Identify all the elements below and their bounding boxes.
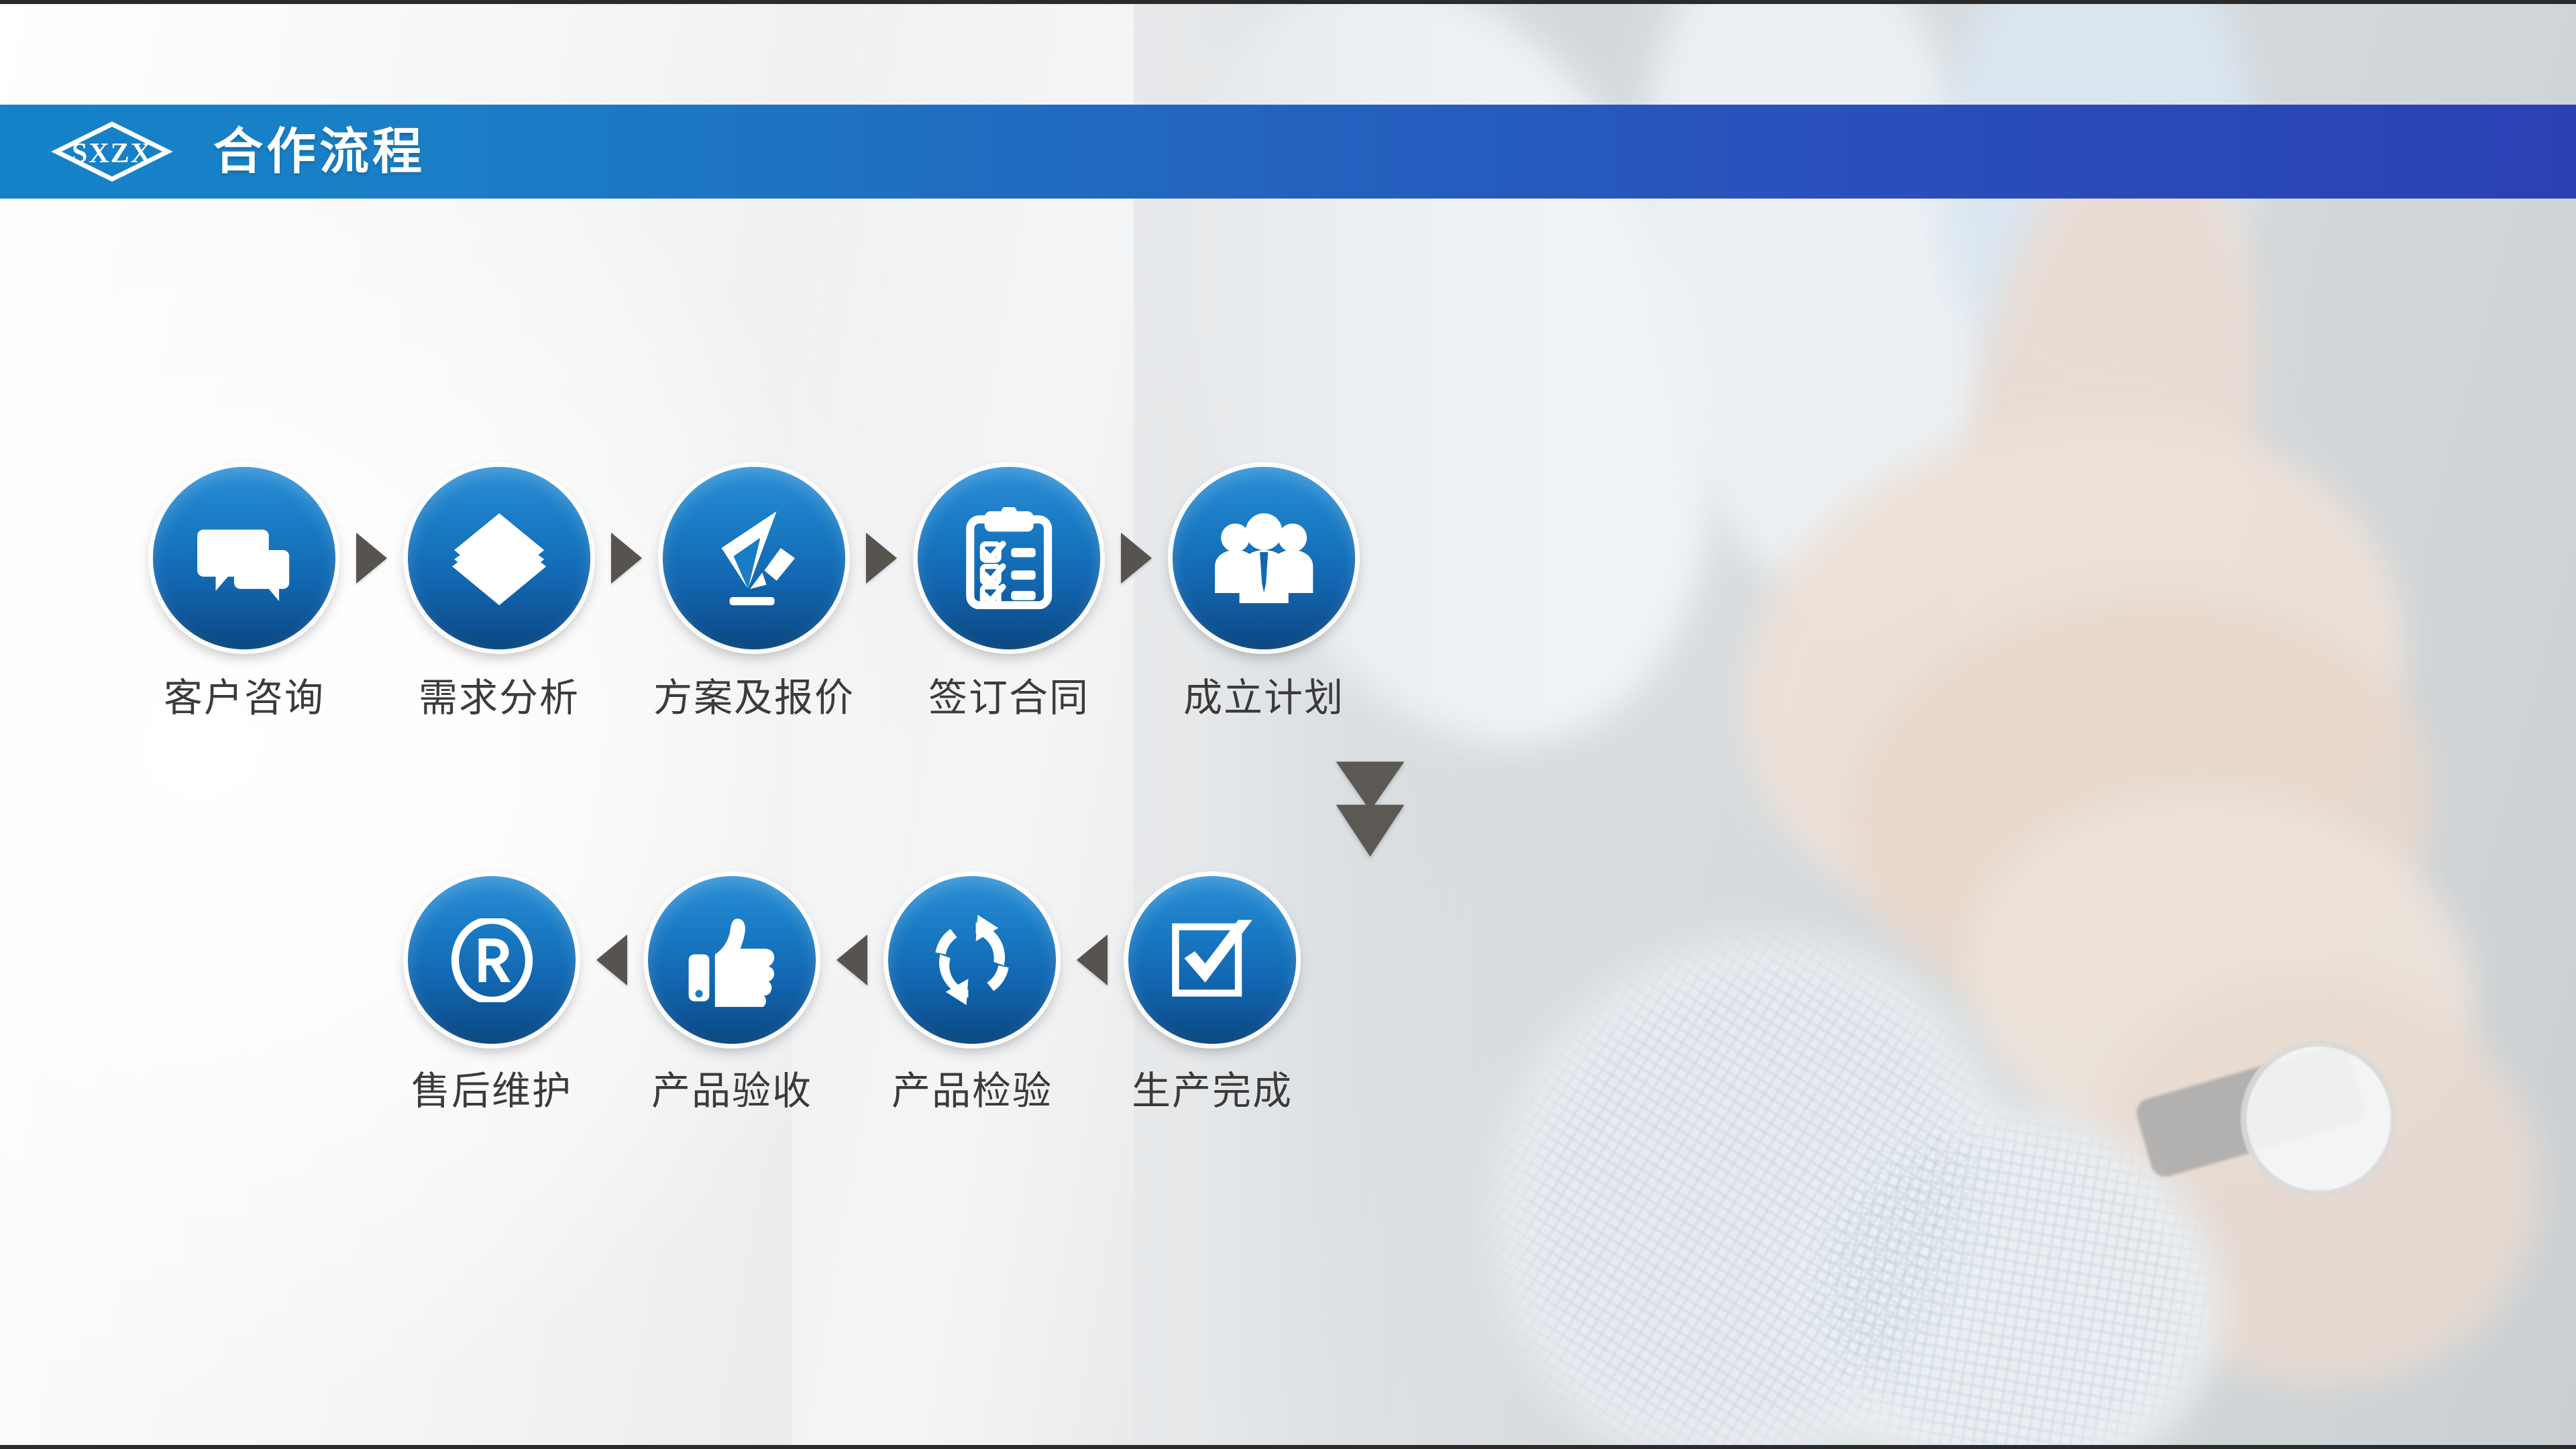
- flow-arrow-left: [576, 876, 648, 1044]
- flow-step-label: 客户咨询: [164, 679, 325, 718]
- refresh-cycle-icon: [888, 876, 1056, 1044]
- flow-row-1: 客户咨询 需求分析: [153, 467, 1355, 718]
- flow-arrow-left: [816, 876, 888, 1044]
- flow-step-label: 生产完成: [1132, 1072, 1293, 1111]
- double-chevron-down-icon: [1332, 759, 1409, 863]
- thumbs-up-icon: [648, 876, 816, 1044]
- flow-step-label: 产品验收: [651, 1072, 812, 1111]
- flow-step-sign-contract[interactable]: 签订合同: [918, 467, 1100, 718]
- flow-step-label: 售后维护: [411, 1072, 572, 1111]
- flow-step-label: 签订合同: [928, 679, 1089, 718]
- flow-step-label: 成立计划: [1183, 679, 1344, 718]
- team-people-icon: [1173, 467, 1355, 649]
- flow-step-requirement-analysis[interactable]: 需求分析: [408, 467, 590, 718]
- checkbox-checked-icon: [1128, 876, 1296, 1044]
- registered-trademark-icon: [408, 876, 576, 1044]
- flow-step-proposal-quotation[interactable]: 方案及报价: [663, 467, 845, 718]
- flow-arrow-right: [1100, 467, 1173, 649]
- stacked-layers-icon: [408, 467, 590, 649]
- flow-step-production-complete[interactable]: 生产完成: [1128, 876, 1296, 1111]
- flow-step-after-sales-maintenance[interactable]: 售后维护: [408, 876, 576, 1111]
- process-flow-diagram: 客户咨询 需求分析: [0, 4, 1623, 1449]
- flow-step-label: 产品检验: [892, 1072, 1053, 1111]
- flow-row-2: 售后维护 产品验收: [408, 876, 1296, 1111]
- flow-step-product-acceptance[interactable]: 产品验收: [648, 876, 816, 1111]
- flow-step-label: 需求分析: [419, 679, 580, 718]
- flow-arrow-right: [335, 467, 408, 649]
- slide-canvas: SXZX 合作流程 客户咨询: [0, 0, 2576, 1449]
- pen-ruler-draft-icon: [663, 467, 845, 649]
- chat-bubbles-icon: [153, 467, 335, 649]
- clipboard-checklist-icon: [918, 467, 1100, 649]
- flow-arrow-right: [845, 467, 918, 649]
- flow-step-establish-plan[interactable]: 成立计划: [1173, 467, 1355, 718]
- flow-arrow-left: [1056, 876, 1128, 1044]
- flow-arrow-right: [590, 467, 663, 649]
- flow-step-product-inspection[interactable]: 产品检验: [888, 876, 1056, 1111]
- flow-step-customer-inquiry[interactable]: 客户咨询: [153, 467, 335, 718]
- flow-step-label: 方案及报价: [653, 679, 855, 718]
